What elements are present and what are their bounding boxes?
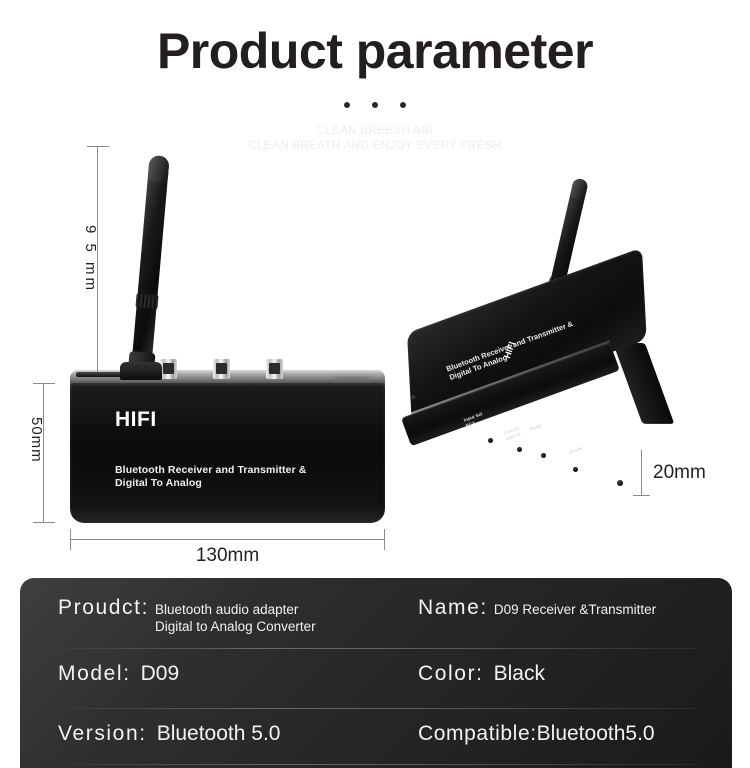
device-description: Bluetooth Receiver and Transmitter &Digi…: [115, 464, 306, 490]
spec-divider: [58, 764, 698, 765]
spec-label-version: Version:: [58, 722, 147, 746]
dimension-tick: [633, 495, 650, 496]
case-screw: [411, 395, 417, 401]
body-height-dimension-label: 50mm: [28, 417, 45, 463]
coaxial-optical-port: [517, 447, 522, 452]
antenna: [131, 155, 170, 371]
spec-value-name: D09 Receiver &Transmitter: [494, 601, 656, 618]
depth-dimension-label: 20mm: [653, 462, 706, 484]
dot-icon: [372, 102, 378, 108]
width-dimension-line: [70, 539, 385, 540]
spec-cell-model: Model: D09: [58, 662, 179, 686]
subtitle-line-1: CLEAN BREESH AIR: [0, 124, 750, 139]
spec-cell-name: Name: D09 Receiver &Transmitter: [418, 596, 656, 620]
brand-label: HIFI: [115, 408, 157, 432]
page-title: Product parameter: [0, 22, 750, 80]
specification-panel: Proudct: Bluetooth audio adapterDigital …: [20, 578, 732, 768]
top-vent-strip: [76, 372, 124, 377]
antenna-tip: [570, 177, 589, 200]
spec-label-color: Color:: [418, 662, 484, 686]
spec-value-product: Bluetooth audio adapterDigital to Analog…: [155, 601, 316, 635]
spec-label-compatible: Compatible:: [418, 722, 537, 746]
antenna-base: [120, 362, 162, 380]
depth-dimension-line: [641, 450, 642, 496]
spec-value-color: Black: [494, 662, 545, 686]
device-body: HIFI Bluetooth Receiver and Transmitter …: [70, 383, 385, 523]
device-side-face: [613, 343, 674, 424]
width-dimension-label: 130mm: [0, 545, 455, 567]
spec-cell-version: Version: Bluetooth 5.0: [58, 722, 280, 746]
dot-icon: [344, 102, 350, 108]
spec-cell-color: Color: Black: [418, 662, 545, 686]
power-port: [573, 467, 578, 472]
spec-value-compatible: Bluetooth5.0: [537, 722, 655, 746]
spec-divider: [58, 708, 698, 709]
mode-button: [541, 453, 546, 458]
dot-separator: [0, 96, 750, 114]
spec-label-product: Proudct:: [58, 596, 149, 620]
spec-value-version: Bluetooth 5.0: [157, 722, 281, 746]
height-dimension-label: 9 5 mm: [82, 225, 99, 293]
rca-jack: [266, 359, 283, 379]
antenna-knurl: [135, 293, 158, 309]
dimension-tick: [87, 146, 109, 147]
rca-jack: [213, 359, 230, 379]
antenna-tip: [148, 155, 170, 183]
spec-divider: [58, 648, 698, 649]
right-device-illustration: HIFI Bluetooth Receiver and Transmitter …: [395, 150, 750, 560]
top-port-slot: [334, 371, 370, 379]
dimension-tick: [33, 383, 55, 384]
spec-cell-product: Proudct: Bluetooth audio adapterDigital …: [58, 596, 316, 635]
spec-label-model: Model:: [58, 662, 131, 686]
spec-value-model: D09: [141, 662, 180, 686]
dimension-tick: [33, 522, 55, 523]
spec-label-name: Name:: [418, 596, 488, 620]
input-sel-port: [488, 438, 493, 443]
dot-icon: [400, 102, 406, 108]
case-screw: [617, 480, 623, 486]
rca-jack: [160, 359, 177, 379]
left-device-illustration: HIFI Bluetooth Receiver and Transmitter …: [0, 140, 400, 570]
spec-cell-compatible: Compatible: Bluetooth5.0: [418, 722, 655, 746]
